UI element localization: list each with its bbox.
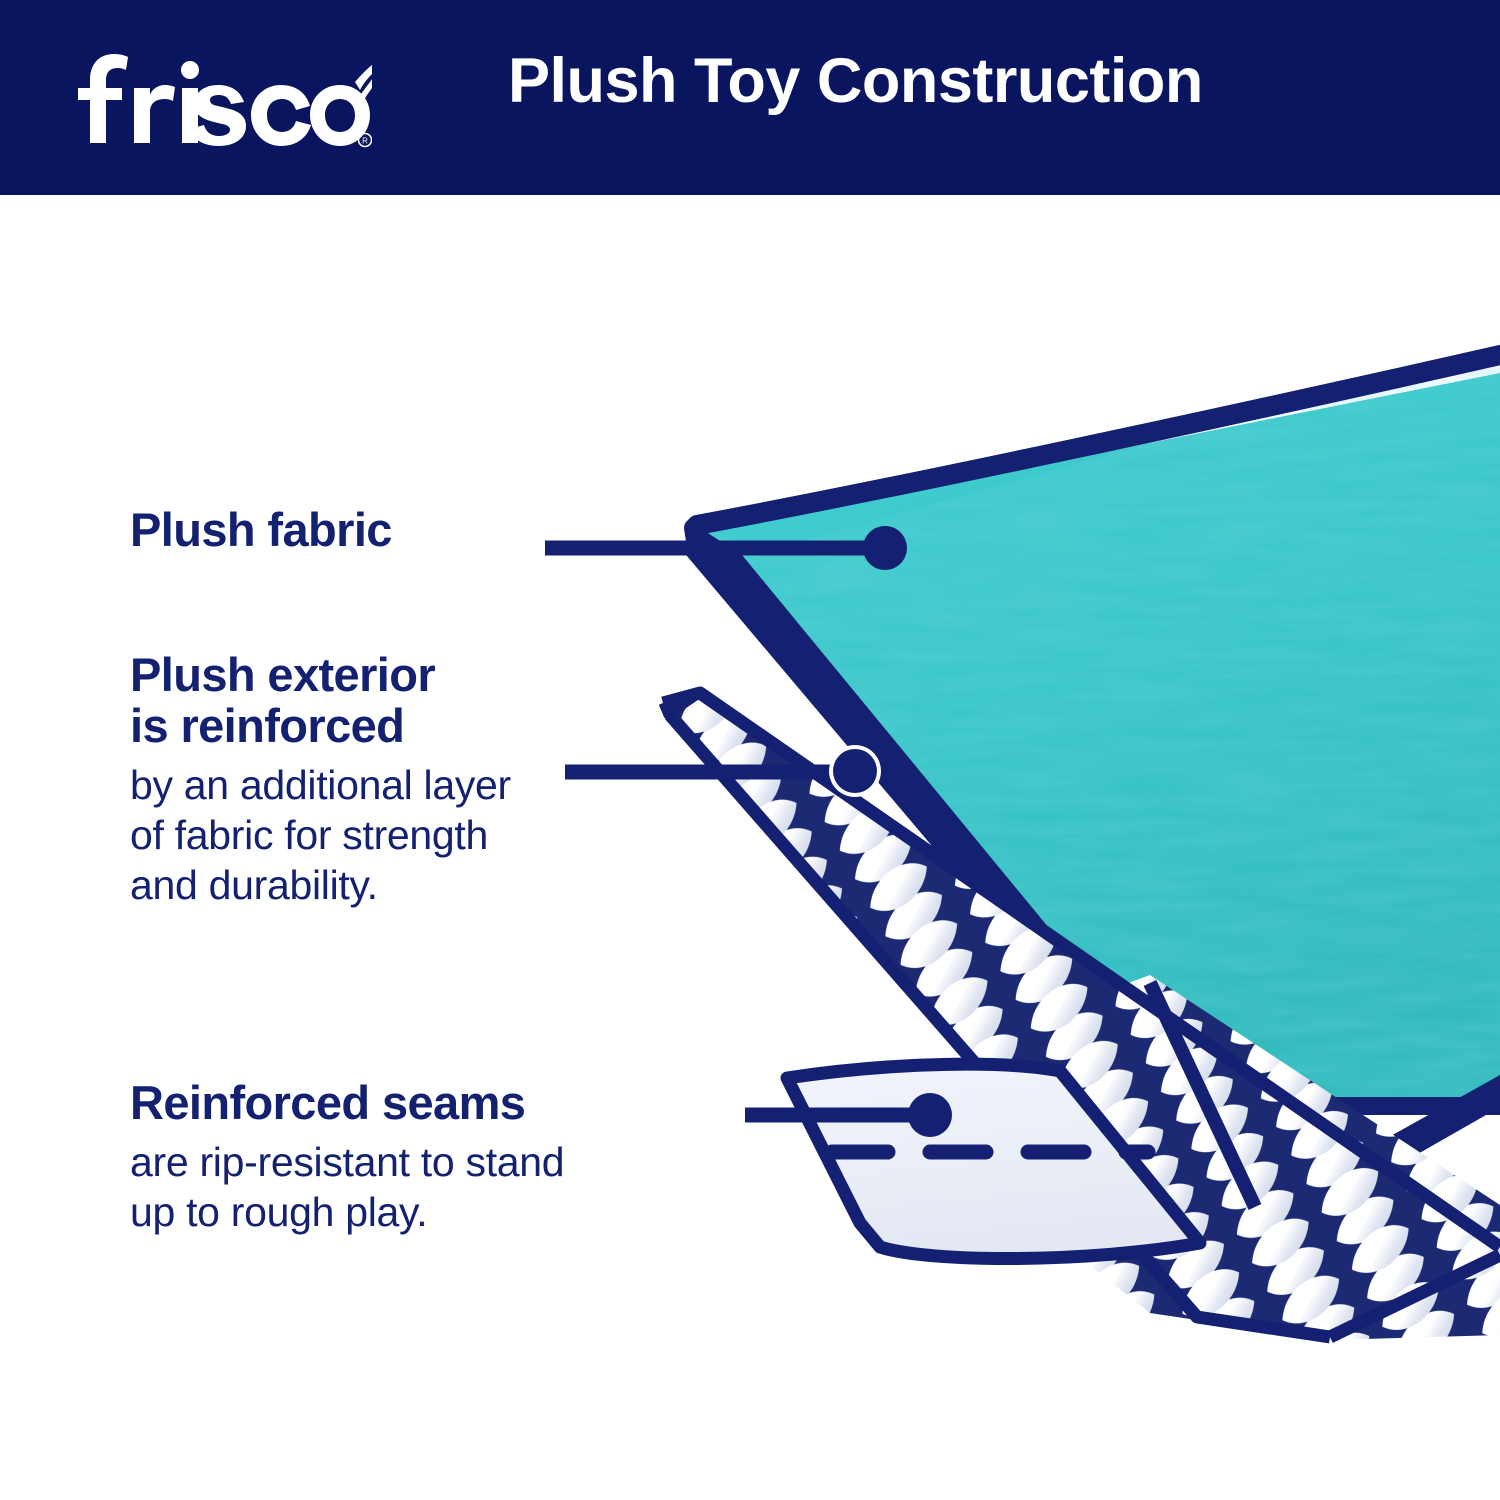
registered-trademark-icon: R [359,134,372,147]
callout-body: by an additional layer of fabric for str… [130,760,710,910]
page-title: Plush Toy Construction [508,48,1203,114]
callout-plush-fabric: Plush fabric [130,505,560,556]
callout-reinforced-seams: Reinforced seams are rip-resistant to st… [130,1078,790,1237]
frisco-logo: R [72,44,372,148]
infographic-page: R Plush Toy Construction [0,0,1500,1500]
callout-plush-exterior: Plush exterior is reinforced by an addit… [130,650,710,910]
page-header: R Plush Toy Construction [0,0,1500,195]
callout-body: are rip-resistant to stand up to rough p… [130,1137,790,1237]
callout-heading: Reinforced seams [130,1078,790,1129]
svg-text:R: R [362,137,368,146]
callout-heading: Plush exterior is reinforced [130,650,710,752]
callout-heading: Plush fabric [130,505,560,556]
